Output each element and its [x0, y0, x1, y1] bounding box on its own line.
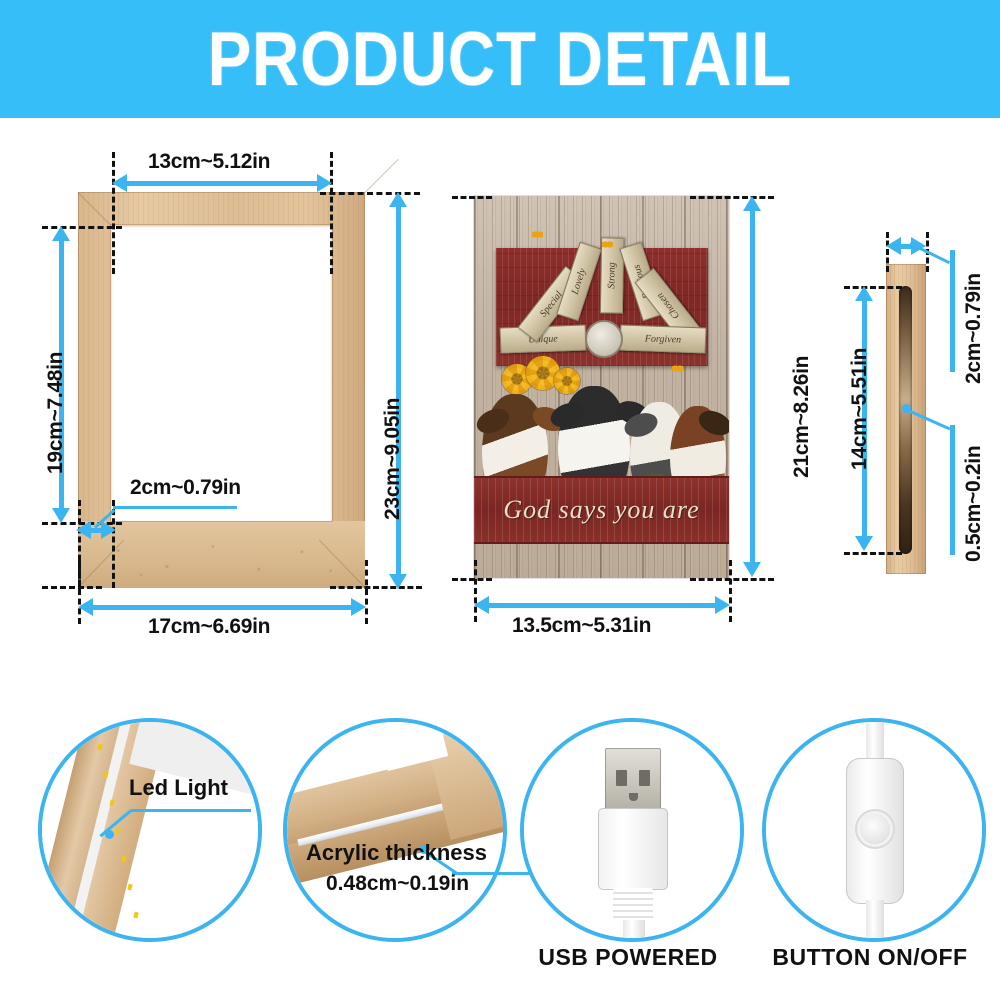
miter-joint-tr [365, 159, 399, 193]
arrowhead-left [112, 174, 127, 192]
artwork-panel: Unique Special Lovely Strong Precious Ch… [474, 196, 729, 578]
guide-outer-bottom-right [330, 586, 422, 589]
usb-photo [520, 718, 744, 942]
usb-strain-relief [613, 888, 653, 922]
arrowhead-right-outer-w [351, 598, 366, 616]
artwork-caption-banner: God says you are [474, 476, 729, 544]
dim-slot-label: 0.5cm~0.2in [962, 446, 986, 562]
dim-side-height-label: 14cm~5.51in [848, 348, 872, 470]
arrowhead-left-art-w [474, 596, 489, 614]
usb-plug-body [598, 808, 668, 890]
sunflower-icon [554, 368, 580, 394]
acrylic-slot [899, 286, 912, 554]
usb-powered-label: USB POWERED [520, 944, 736, 971]
dim-arrow-inner-width [118, 181, 326, 186]
frame-bottom-rail [78, 521, 365, 588]
sign-center-hub [585, 320, 623, 358]
dim-outer-height-label: 23cm~9.05in [381, 398, 405, 520]
arrowhead-down-side [855, 536, 873, 551]
arrowhead-left-outer-w [78, 598, 93, 616]
usb-cable [623, 920, 645, 940]
dim-depth-label: 2cm~0.79in [962, 273, 986, 384]
ext-line-inner-left [112, 152, 115, 274]
arrowhead-down [52, 508, 70, 523]
acrylic-callout: Acrylic thickness [306, 840, 487, 866]
led-light-callout: Led Light [129, 775, 228, 801]
leader-slot-vertical [950, 425, 955, 555]
callout-dot-led [105, 830, 114, 839]
dim-border-width-label: 2cm~0.79in [130, 476, 241, 500]
guide-outer-bottom-left [42, 586, 102, 589]
arrowhead-left-border [76, 521, 91, 539]
arrowhead-up-outer [389, 192, 407, 207]
led-light-photo [38, 718, 262, 942]
butterfly-icon [672, 364, 683, 373]
arrowhead-right-art-w [715, 596, 730, 614]
butterfly-icon [602, 240, 613, 249]
switch-photo [762, 718, 986, 942]
arrowhead-right [317, 174, 332, 192]
arrowhead-right-border [101, 521, 116, 539]
guide-art-bottom-right [690, 578, 774, 581]
dim-art-width-label: 13.5cm~5.31in [512, 614, 651, 638]
guide-side-bottom [844, 552, 902, 555]
arrowhead-down-outer [389, 574, 407, 589]
dim-inner-width-label: 13cm~5.12in [148, 150, 270, 174]
guide-art-top-left [452, 196, 492, 199]
ext-line-inner-right [330, 152, 333, 274]
arrowhead-down-art [743, 562, 761, 577]
dim-arrow-art-height [750, 206, 755, 568]
leader-border-horizontal [113, 506, 237, 509]
acrylic-photo [283, 718, 507, 942]
leader-depth-vertical [950, 250, 955, 372]
leader-led-horizontal [131, 809, 251, 812]
dim-arrow-outer-height [396, 202, 401, 580]
dim-inner-height-label: 19cm~7.48in [44, 352, 68, 474]
header-banner: PRODUCT DETAIL [0, 0, 1000, 118]
page-title: PRODUCT DETAIL [208, 16, 793, 103]
miter-joint-tl [78, 192, 112, 226]
red-sign-board: Unique Special Lovely Strong Precious Ch… [496, 248, 708, 366]
dim-outer-width-label: 17cm~6.69in [148, 615, 270, 639]
switch-cable-bottom [866, 900, 884, 940]
butterfly-icon [532, 230, 543, 239]
dim-arrow-outer-width [84, 605, 360, 610]
slat-strong-label: Strong [606, 262, 617, 289]
wooden-frame [78, 192, 365, 588]
button-onoff-label: BUTTON ON/OFF [762, 944, 978, 971]
artwork-script-text: God says you are [503, 495, 699, 525]
slat-chosen-label: Chosen [654, 291, 681, 321]
guide-art-top-right [690, 196, 774, 199]
acrylic-callout-sub: 0.48cm~0.19in [326, 872, 469, 896]
slat-forgiven-label: Forgiven [645, 333, 682, 345]
usb-connector-metal [605, 748, 661, 810]
frame-side-bar [886, 264, 926, 574]
arrowhead-up [52, 226, 70, 241]
arrowhead-up-art [743, 196, 761, 211]
arrowhead-left-depth [886, 237, 901, 255]
slat-forgiven: Forgiven [620, 325, 707, 354]
guide-art-bottom-left [452, 578, 492, 581]
power-button[interactable] [860, 814, 890, 844]
dim-art-height-label: 21cm~8.26in [790, 356, 814, 478]
guide-side-top [844, 286, 902, 289]
dim-arrow-art-width [480, 603, 724, 608]
slat-lovely-label: Lovely [570, 267, 589, 296]
arrowhead-up-side [855, 286, 873, 301]
